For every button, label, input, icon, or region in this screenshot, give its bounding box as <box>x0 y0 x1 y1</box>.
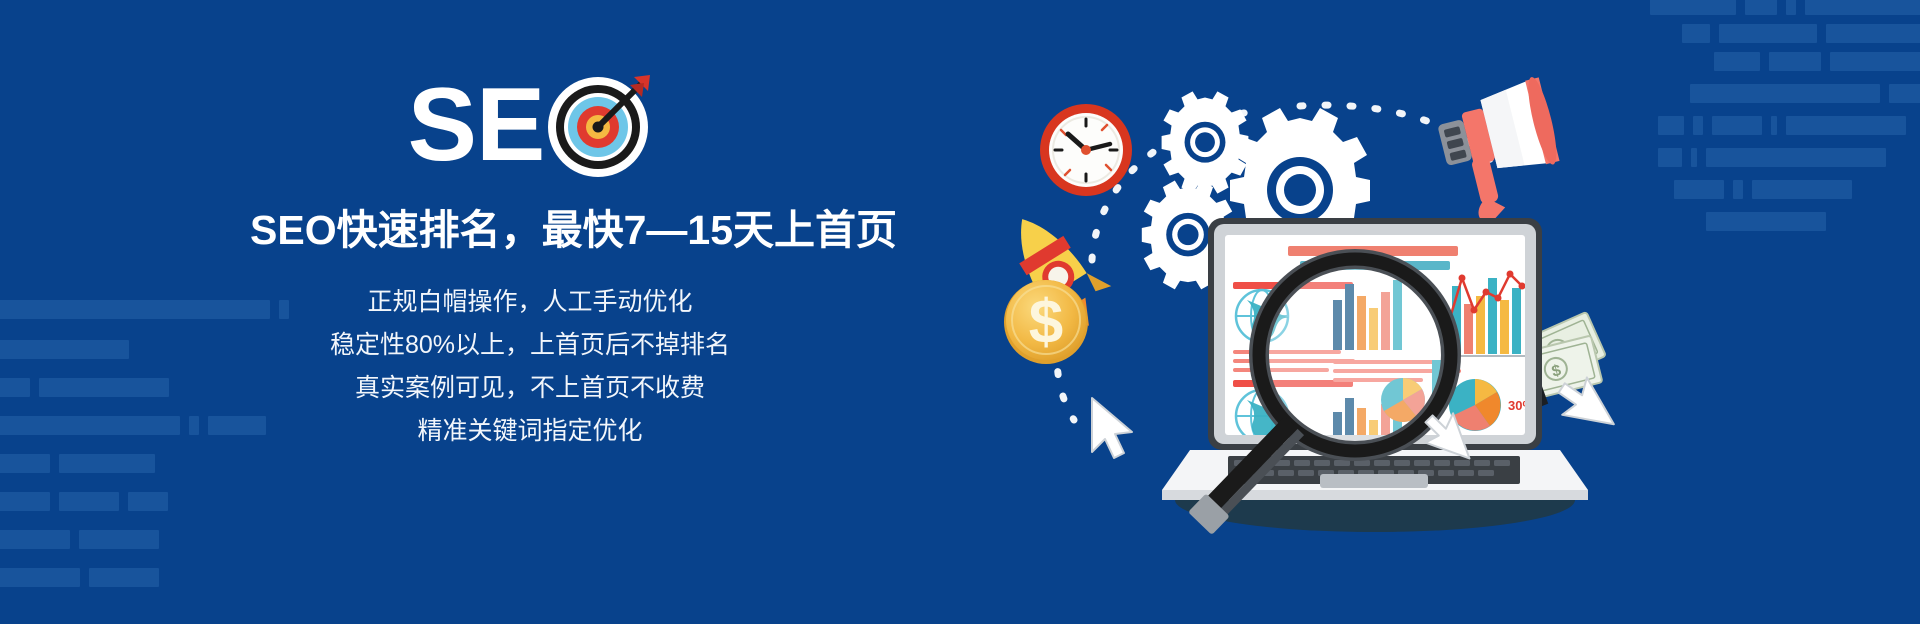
coin-dollar-symbol: $ <box>1029 288 1063 357</box>
seo-illustration: 17 $ $ <box>1000 60 1680 560</box>
subline-2: 稳定性80%以上，上首页后不掉排名 <box>250 324 810 367</box>
target-bullseye-icon <box>548 73 652 177</box>
dollar-coin-icon: $ <box>1004 280 1088 364</box>
subline-3: 真实案例可见，不上首页不收费 <box>250 367 810 410</box>
page-title: SEO快速排名，最快7—15天上首页 <box>250 206 810 255</box>
banner-copy: SE SEO快速排名，最快7—15天上首页 <box>250 70 810 453</box>
subline-1: 正规白帽操作，人工手动优化 <box>250 281 810 324</box>
clock-icon <box>1040 104 1132 196</box>
megaphone-icon <box>1432 75 1573 230</box>
seo-logo: SE <box>250 70 810 180</box>
subline-4: 精准关键词指定优化 <box>250 410 810 453</box>
logo-letters: SE <box>408 73 545 177</box>
cursor-arrow-left <box>1092 398 1132 458</box>
seo-banner: SE SEO快速排名，最快7—15天上首页 <box>0 0 1920 624</box>
